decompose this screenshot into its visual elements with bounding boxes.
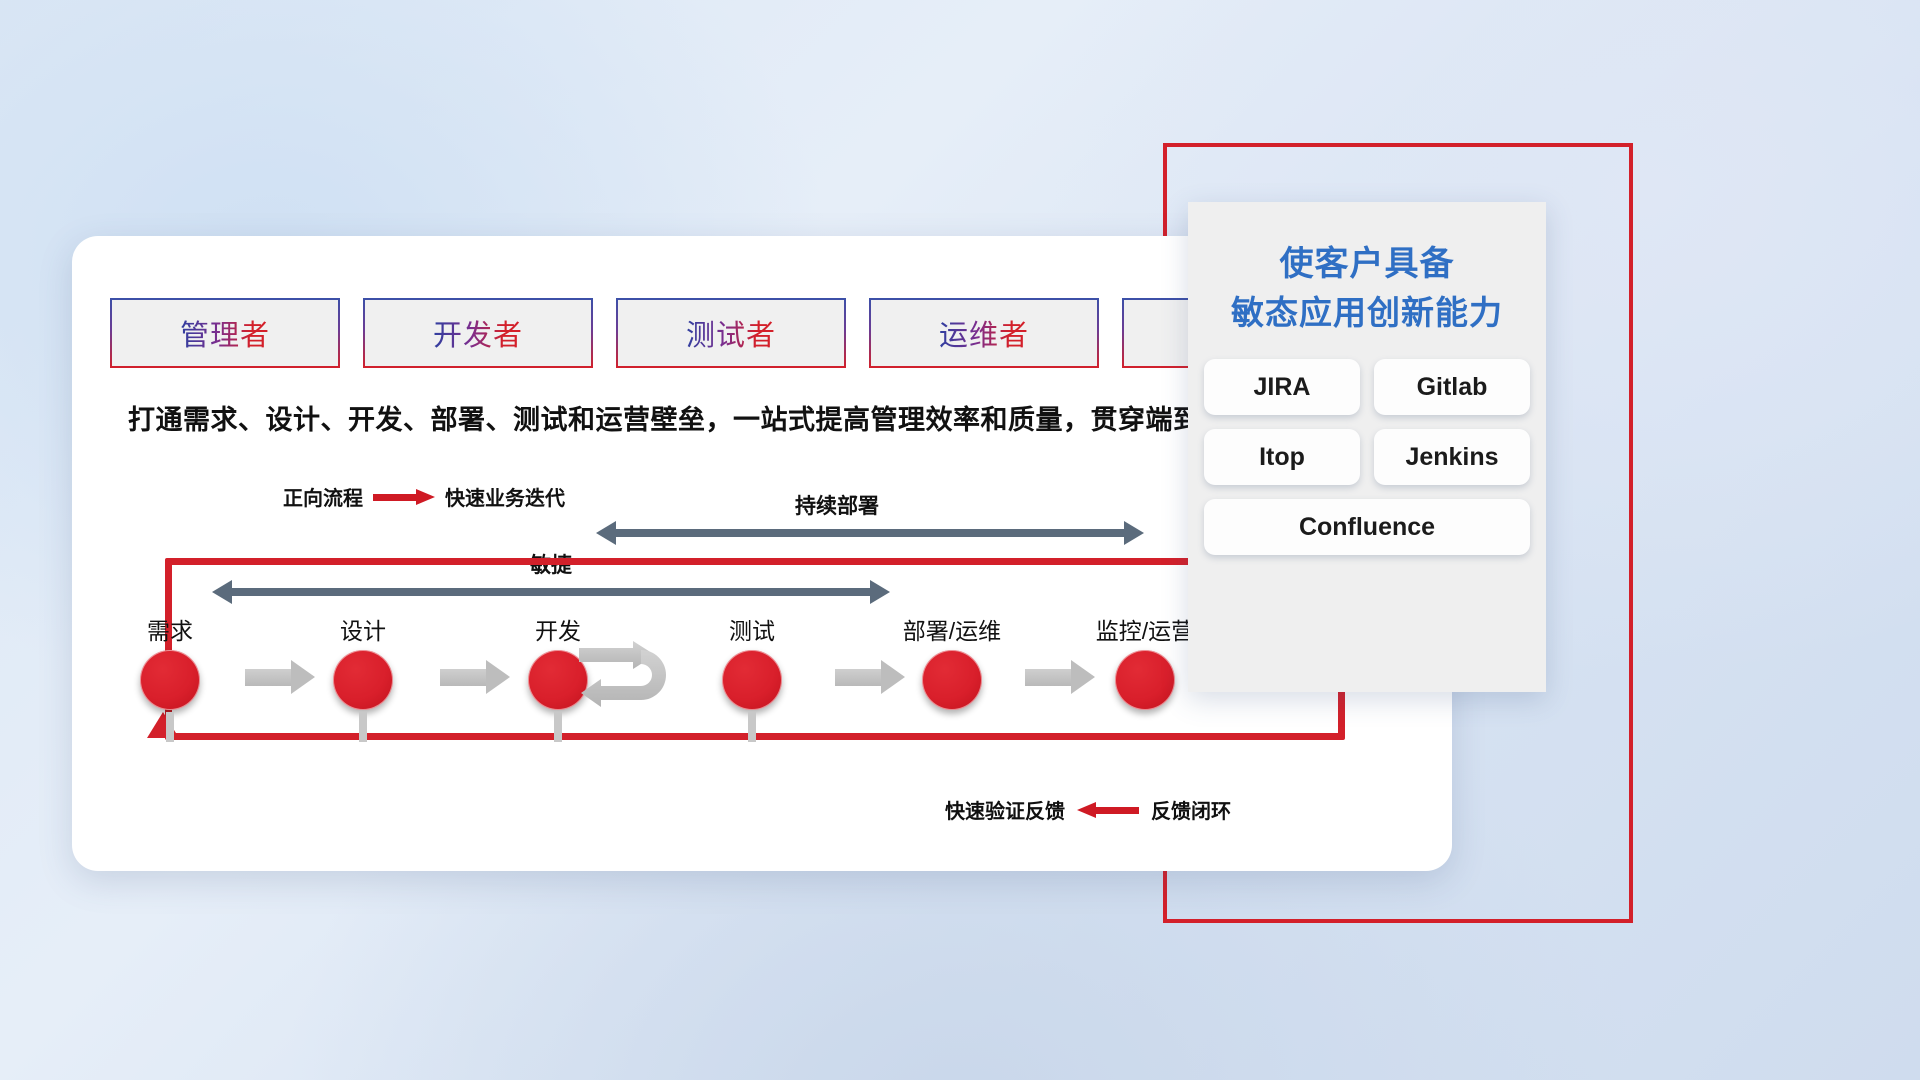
role-label: 测试者 bbox=[686, 312, 776, 354]
side-panel-title-line1: 使客户具备 bbox=[1280, 245, 1455, 283]
arrow-right-red-icon bbox=[373, 489, 435, 505]
legend-forward-left-label: 正向流程 bbox=[283, 482, 363, 511]
arrow-head-right-icon bbox=[1071, 660, 1095, 694]
connector-arrow-design-dev-icon bbox=[440, 660, 510, 694]
tool-chip-itop[interactable]: Itop bbox=[1204, 429, 1360, 485]
role-label: 管理者 bbox=[180, 312, 270, 354]
connector-arrow-deploy-monitor-icon bbox=[1025, 660, 1095, 694]
stage-dot-icon bbox=[922, 650, 982, 710]
legend-forward-flow: 正向流程 快速业务迭代 bbox=[283, 482, 565, 511]
arrow-left-red-icon bbox=[1077, 802, 1139, 818]
role-box-tester[interactable]: 测试者 bbox=[616, 298, 846, 368]
tool-list: JIRA Gitlab Itop Jenkins Confluence bbox=[1188, 337, 1546, 555]
arrow-shaft bbox=[245, 669, 293, 686]
stage-requirements[interactable]: 需求 bbox=[110, 612, 230, 710]
stage-stem bbox=[166, 712, 174, 742]
tool-chip-jira[interactable]: JIRA bbox=[1204, 359, 1360, 415]
tool-chip-confluence[interactable]: Confluence bbox=[1204, 499, 1530, 555]
arrow-shaft bbox=[835, 669, 883, 686]
span-label-continuous-deployment: 持续部署 bbox=[795, 490, 879, 520]
stage-dot-icon bbox=[1115, 650, 1175, 710]
stage-stem bbox=[359, 712, 367, 742]
role-box-manager[interactable]: 管理者 bbox=[110, 298, 340, 368]
headline-text: 打通需求、设计、开发、部署、测试和运营壁垒，一站式提高管理效率和质量，贯穿端到端… bbox=[128, 398, 1311, 437]
stage-deploy-ops[interactable]: 部署/运维 bbox=[892, 612, 1012, 710]
connector-arrow-req-design-icon bbox=[245, 660, 315, 694]
stage-label: 监控/运营 bbox=[1085, 612, 1205, 646]
connector-arrow-test-deploy-icon bbox=[835, 660, 905, 694]
stage-dot-icon bbox=[333, 650, 393, 710]
arrow-shaft bbox=[613, 529, 1127, 537]
role-box-developer[interactable]: 开发者 bbox=[363, 298, 593, 368]
role-box-ops[interactable]: 运维者 bbox=[869, 298, 1099, 368]
stage-dot-icon bbox=[722, 650, 782, 710]
double-arrow-continuous-deployment-icon bbox=[596, 521, 1144, 545]
stage-design[interactable]: 设计 bbox=[303, 612, 423, 710]
arrow-head-right-icon bbox=[881, 660, 905, 694]
legend-forward-right-label: 快速业务迭代 bbox=[445, 482, 565, 511]
arrow-head-right-icon bbox=[1124, 521, 1144, 545]
stage-testing[interactable]: 测试 bbox=[692, 612, 812, 710]
tool-chip-jenkins[interactable]: Jenkins bbox=[1374, 429, 1530, 485]
side-panel: 使客户具备 敏态应用创新能力 JIRA Gitlab Itop Jenkins … bbox=[1188, 202, 1546, 692]
side-panel-title-line2: 敏态应用创新能力 bbox=[1188, 289, 1546, 337]
legend-feedback-right-label: 反馈闭环 bbox=[1151, 795, 1231, 824]
stage-label: 部署/运维 bbox=[892, 612, 1012, 646]
arrow-head-right-icon bbox=[291, 660, 315, 694]
role-label: 运维者 bbox=[939, 312, 1029, 354]
role-box-row: 管理者 开发者 测试者 运维者 运营者 bbox=[110, 298, 1352, 368]
stage-label: 设计 bbox=[303, 612, 423, 646]
legend-feedback-left-label: 快速验证反馈 bbox=[945, 795, 1065, 824]
stage-label: 测试 bbox=[692, 612, 812, 646]
role-label: 开发者 bbox=[433, 312, 523, 354]
stage-monitor-operations[interactable]: 监控/运营 bbox=[1085, 612, 1205, 710]
legend-feedback-loop: 快速验证反馈 反馈闭环 bbox=[945, 795, 1231, 824]
stage-label: 需求 bbox=[110, 612, 230, 646]
u-turn-loop-arrow-icon bbox=[575, 638, 679, 719]
stage-stem bbox=[554, 712, 562, 742]
stage-stem bbox=[748, 712, 756, 742]
tool-chip-gitlab[interactable]: Gitlab bbox=[1374, 359, 1530, 415]
stage-dot-icon bbox=[140, 650, 200, 710]
arrow-head-right-icon bbox=[486, 660, 510, 694]
side-panel-title: 使客户具备 敏态应用创新能力 bbox=[1188, 202, 1546, 337]
arrow-shaft bbox=[1025, 669, 1073, 686]
arrow-shaft bbox=[440, 669, 488, 686]
